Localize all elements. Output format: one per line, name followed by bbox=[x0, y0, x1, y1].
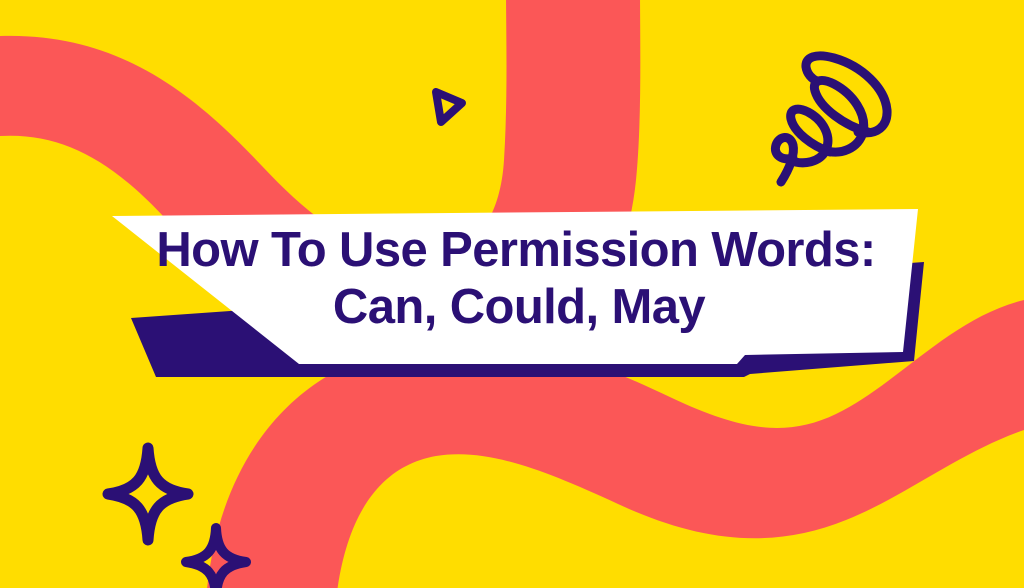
header-graphic-canvas: How To Use Permission Words: Can, Could,… bbox=[0, 0, 1024, 588]
title-banner-layer bbox=[0, 0, 1024, 588]
